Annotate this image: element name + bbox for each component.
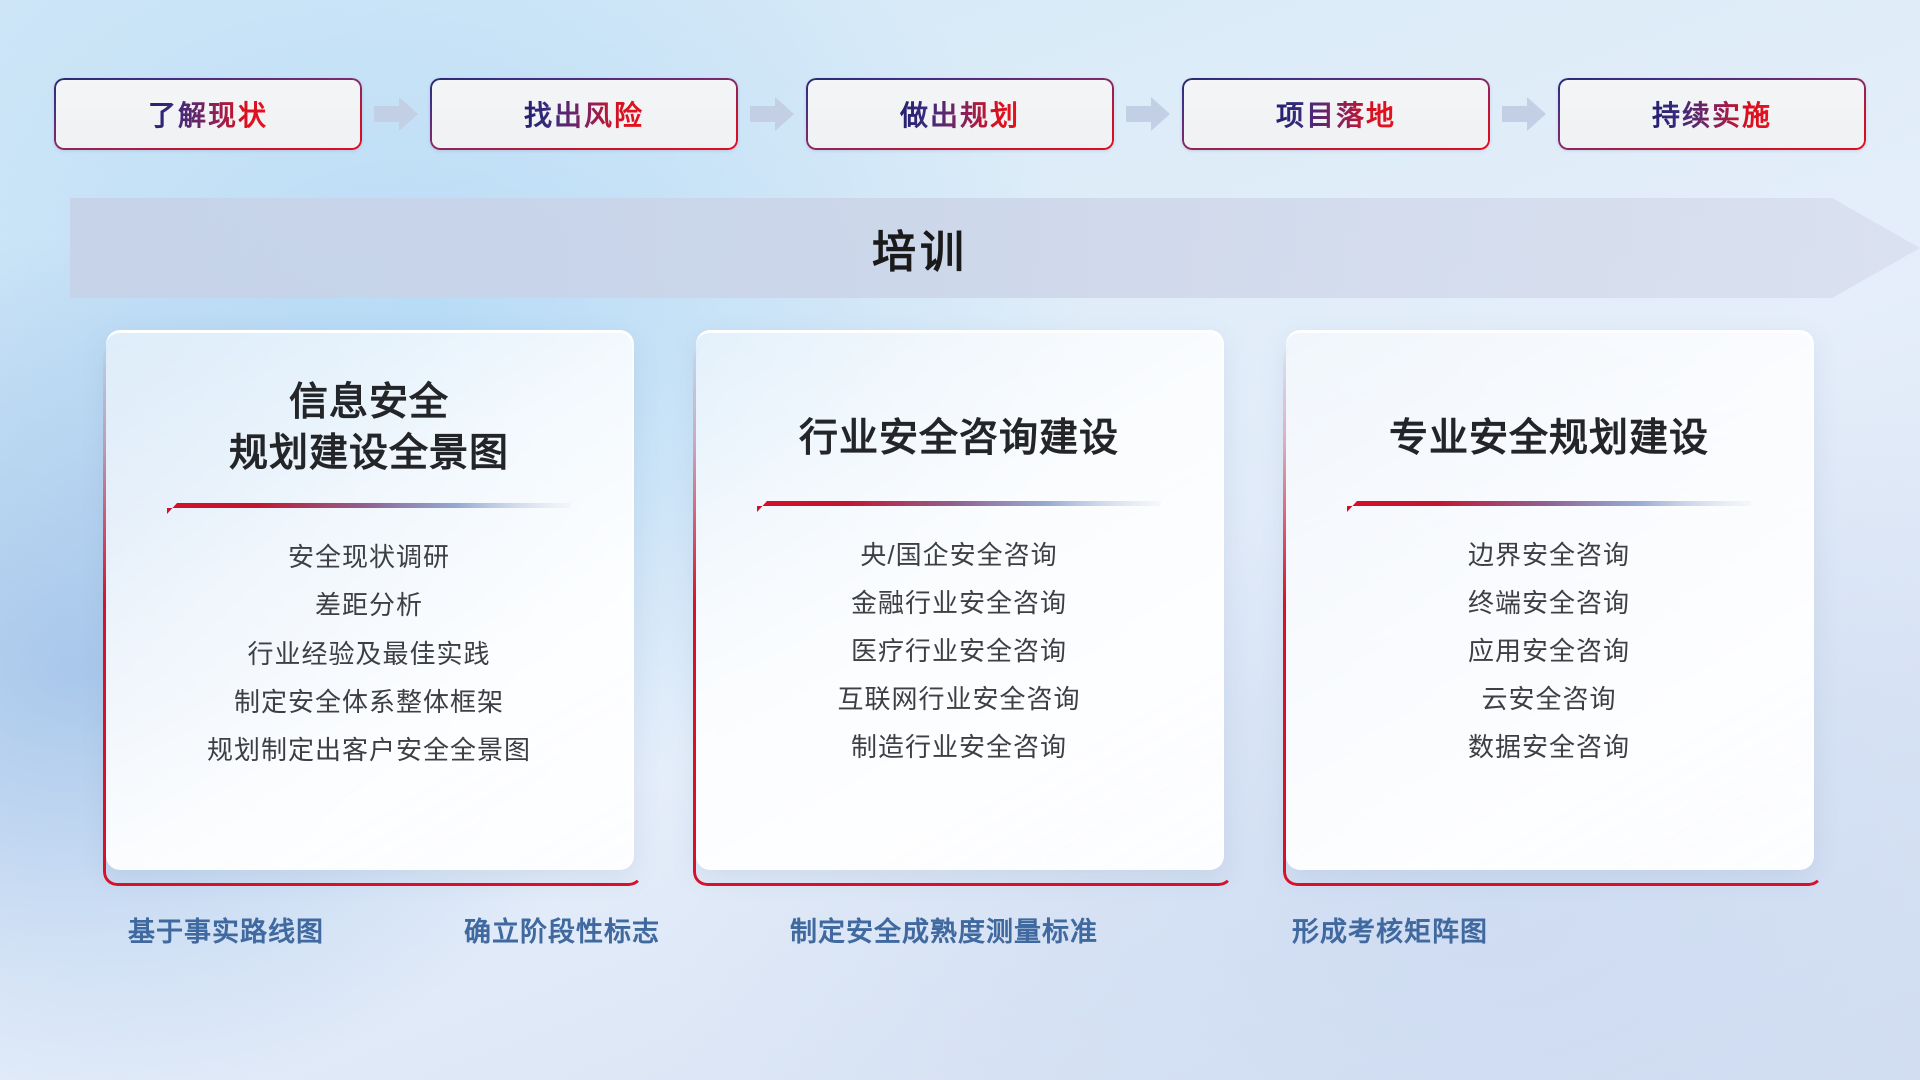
card-item-list: 边界安全咨询 终端安全咨询 应用安全咨询 云安全咨询 数据安全咨询: [1468, 538, 1630, 765]
list-item: 央/国企安全咨询: [860, 538, 1057, 573]
card-title-line: 专业安全规划建设: [1389, 414, 1709, 465]
process-step-4[interactable]: 项目落地: [1182, 78, 1490, 150]
list-item: 终端安全咨询: [1468, 586, 1630, 621]
list-item: 边界安全咨询: [1468, 538, 1630, 573]
list-item: 医疗行业安全咨询: [851, 634, 1067, 669]
process-step-label: 做出规划: [900, 94, 1020, 134]
footer-labels-row: 基于事实路线图 确立阶段性标志 制定安全成熟度测量标准 形成考核矩阵图: [0, 910, 1920, 956]
card-item-list: 安全现状调研 差距分析 行业经验及最佳实践 制定安全体系整体框架 规划制定出客户…: [207, 540, 531, 767]
process-step-label: 找出风险: [524, 94, 644, 134]
list-item: 差距分析: [315, 588, 423, 623]
footer-label-matrix: 形成考核矩阵图: [1292, 910, 1488, 949]
list-item: 金融行业安全咨询: [851, 586, 1067, 621]
card-title-line: 行业安全咨询建设: [799, 414, 1119, 465]
card-title: 行业安全咨询建设: [799, 414, 1119, 465]
card-divider: [757, 501, 1161, 512]
cards-row: 信息安全 规划建设全景图: [0, 330, 1920, 875]
card-information-security-blueprint[interactable]: 信息安全 规划建设全景图: [106, 330, 634, 870]
list-item: 制定安全体系整体框架: [234, 685, 504, 720]
arrow-right-icon: [1114, 78, 1182, 150]
footer-label-milestone: 确立阶段性标志: [464, 910, 660, 949]
process-step-5[interactable]: 持续实施: [1558, 78, 1866, 150]
process-step-label: 项目落地: [1276, 94, 1396, 134]
list-item: 行业经验及最佳实践: [247, 637, 490, 672]
arrow-right-icon: [1490, 78, 1558, 150]
list-item: 安全现状调研: [288, 540, 450, 575]
training-band: 培训: [70, 198, 1920, 298]
footer-label-maturity: 制定安全成熟度测量标准: [790, 910, 1098, 949]
card-title: 信息安全 规划建设全景图: [229, 378, 509, 479]
card-divider: [167, 503, 571, 514]
process-step-3[interactable]: 做出规划: [806, 78, 1114, 150]
list-item: 互联网行业安全咨询: [837, 682, 1080, 717]
footer-label-roadmap: 基于事实路线图: [128, 910, 324, 949]
card-title: 专业安全规划建设: [1389, 414, 1709, 465]
process-step-label: 持续实施: [1652, 94, 1772, 134]
card-industry-security-consulting[interactable]: 行业安全咨询建设 央/国: [696, 330, 1224, 870]
process-steps-row: 了解现状 找出风险 做出规划 项目落地 持续实施: [0, 78, 1920, 150]
list-item: 数据安全咨询: [1468, 730, 1630, 765]
training-band-label: 培训: [70, 198, 1770, 298]
arrow-right-icon: [362, 78, 430, 150]
process-step-2[interactable]: 找出风险: [430, 78, 738, 150]
card-divider: [1347, 501, 1751, 512]
card-item-list: 央/国企安全咨询 金融行业安全咨询 医疗行业安全咨询 互联网行业安全咨询 制造行…: [837, 538, 1080, 765]
card-title-line: 规划建设全景图: [229, 429, 509, 480]
list-item: 规划制定出客户安全全景图: [207, 733, 531, 768]
process-step-label: 了解现状: [148, 94, 268, 134]
card-title-line: 信息安全: [229, 378, 509, 429]
list-item: 云安全咨询: [1481, 682, 1616, 717]
list-item: 制造行业安全咨询: [851, 730, 1067, 765]
arrow-right-icon: [738, 78, 806, 150]
process-step-1[interactable]: 了解现状: [54, 78, 362, 150]
card-professional-security-planning[interactable]: 专业安全规划建设 边界安: [1286, 330, 1814, 870]
list-item: 应用安全咨询: [1468, 634, 1630, 669]
